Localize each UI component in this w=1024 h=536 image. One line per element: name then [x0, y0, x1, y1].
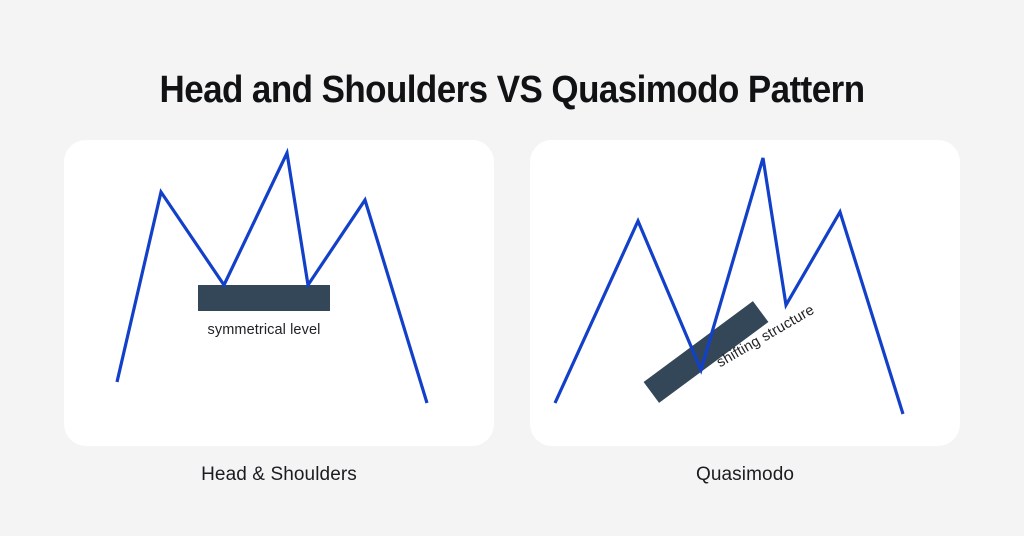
panel-quasimodo: [530, 140, 960, 446]
head-and-shoulders-chart: [64, 140, 494, 446]
symmetrical-level-label: symmetrical level: [178, 322, 350, 338]
symmetrical-level-bar: [198, 285, 330, 311]
panel-head-and-shoulders: [64, 140, 494, 446]
price-line-head-and-shoulders: [117, 153, 427, 403]
price-line-quasimodo: [555, 158, 903, 414]
diagram-canvas: Head and Shoulders VS Quasimodo Pattern …: [0, 0, 1024, 536]
caption-quasimodo: Quasimodo: [530, 464, 960, 486]
caption-head-and-shoulders: Head & Shoulders: [64, 464, 494, 486]
page-title: Head and Shoulders VS Quasimodo Pattern: [41, 69, 983, 112]
quasimodo-chart: [530, 140, 960, 446]
